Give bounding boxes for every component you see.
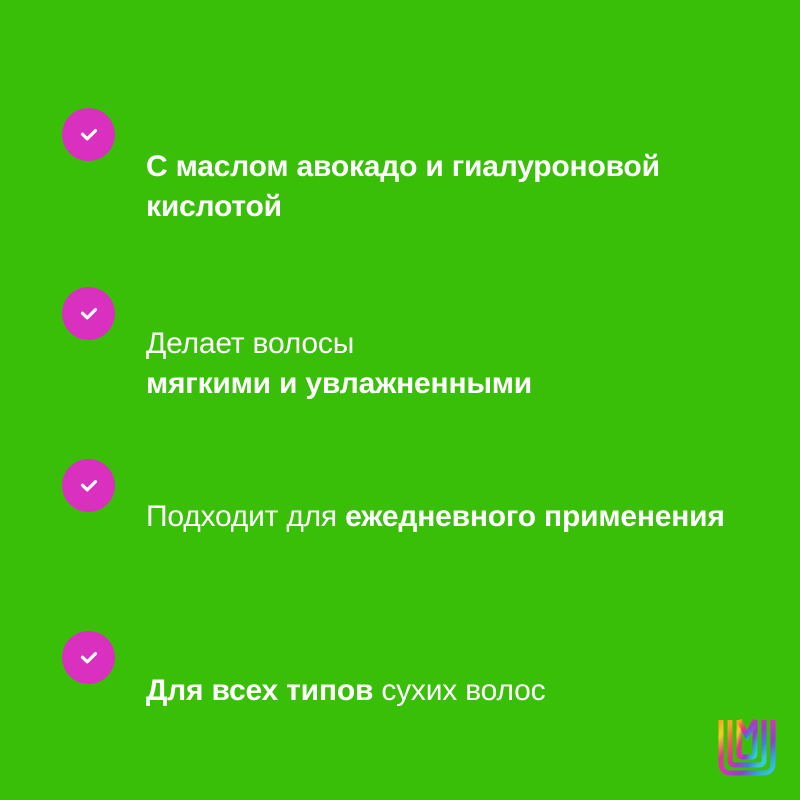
benefit-text-segment: Для всех типов [146, 674, 373, 707]
promo-card: С маслом авокадо и гиалуроновой кислотой… [0, 0, 800, 800]
benefit-text: Для всех типов сухих волос [146, 631, 545, 711]
check-icon [62, 287, 115, 340]
benefit-text-segment: С маслом авокадо и гиалуроновой кислотой [146, 150, 660, 223]
benefit-text-segment: Делает волосы [146, 327, 354, 360]
list-item: Для всех типов сухих волос [62, 631, 545, 711]
benefit-text: Делает волосы мягкими и увлажненными [146, 284, 532, 404]
list-item: Подходит для ежедневного применения [62, 457, 725, 537]
benefit-text-segment: ежедневного применения [345, 500, 725, 533]
rainbow-m-logo [716, 716, 778, 778]
benefit-text: Подходит для ежедневного применения [146, 457, 725, 537]
benefit-text-segment: Подходит для [146, 500, 345, 533]
benefit-text-segment: сухих волос [373, 674, 545, 707]
check-icon [62, 108, 115, 161]
benefits-list: С маслом авокадо и гиалуроновой кислотой… [0, 0, 800, 800]
check-icon [62, 631, 115, 684]
benefit-text-segment: мягкими и увлажненными [146, 367, 532, 400]
benefit-text: С маслом авокадо и гиалуроновой кислотой [146, 107, 766, 227]
check-icon [62, 459, 115, 512]
list-item: С маслом авокадо и гиалуроновой кислотой [62, 107, 766, 227]
list-item: Делает волосы мягкими и увлажненными [62, 284, 532, 404]
